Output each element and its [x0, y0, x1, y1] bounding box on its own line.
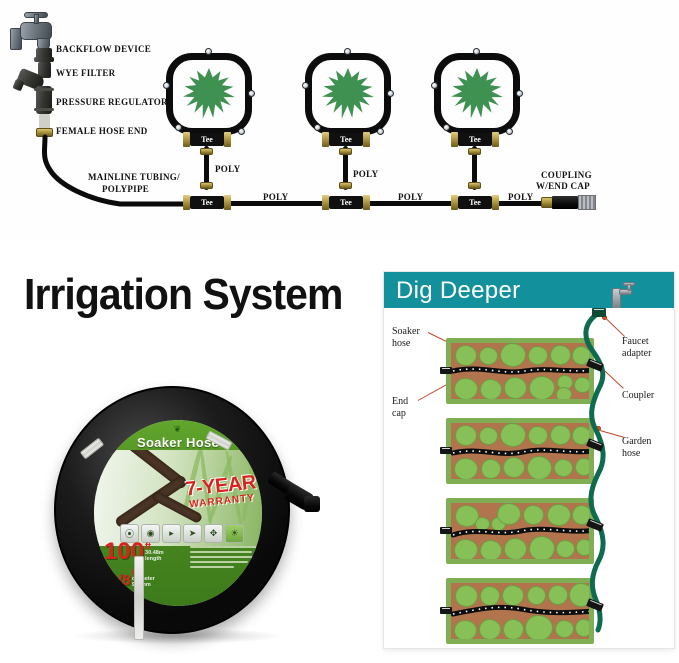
- screenshot-root: BACKFLOW DEVICE WYE FILTER PRESSURE REGU…: [0, 0, 679, 663]
- leader-line-garden-hose: [600, 430, 625, 438]
- leader-dot-garden-hose: [596, 426, 601, 431]
- label-poly-run-3: POLY: [508, 192, 533, 202]
- garden-bed: [446, 498, 594, 564]
- callout-line2: adapter: [622, 348, 651, 360]
- soaker-hose-path: [451, 503, 594, 564]
- callout-coupler: Coupler: [622, 390, 654, 402]
- garden-bed: [446, 578, 594, 644]
- riser-coupling-1: [200, 148, 213, 155]
- tee-fitting: Tee: [329, 196, 363, 209]
- soaker-hose-path: [451, 583, 594, 644]
- soaker-hose-path: [451, 343, 594, 404]
- spec-text-line: [190, 546, 258, 548]
- emitter-icon: [506, 128, 513, 135]
- emitter-icon: [443, 124, 450, 131]
- emitter-icon: [302, 82, 309, 89]
- tee-fitting: Tee: [329, 133, 363, 146]
- leader-line-faucet-adapter: [606, 318, 625, 337]
- tee-fitting: Tee: [458, 133, 492, 146]
- callout-line2: hose: [622, 448, 651, 460]
- label-backflow-device: BACKFLOW DEVICE: [56, 44, 151, 54]
- dig-deeper-diagram: Soaker hose End cap Faucet adapter Coupl…: [384, 308, 674, 648]
- spigot-handle-stem: [34, 14, 39, 24]
- soaker-hose-product-photo: ❦ Soaker Hose: [44, 382, 344, 654]
- label-wye-filter: WYE FILTER: [56, 68, 115, 78]
- drip-irrigation-schematic: BACKFLOW DEVICE WYE FILTER PRESSURE REGU…: [0, 0, 679, 240]
- nozzle-cap: [304, 496, 320, 512]
- hose-coil: ❦ Soaker Hose: [54, 386, 290, 634]
- wye-filter-tip: [12, 79, 24, 92]
- tee-label: Tee: [469, 136, 481, 144]
- dig-deeper-panel: Dig Deeper Soaker hose End cap: [384, 272, 674, 648]
- callout-garden-hose: Garden hose: [622, 436, 651, 459]
- callout-line1: Soaker: [392, 326, 420, 338]
- emitter-icon: [175, 124, 182, 131]
- tee-label: Tee: [201, 199, 213, 207]
- coil-strap: [134, 556, 144, 640]
- callout-line1: End: [392, 396, 408, 408]
- end-cap-ribbed: [578, 195, 596, 210]
- end-cap-body: [552, 196, 578, 209]
- label-coupling-line2: W/END CAP: [536, 181, 590, 191]
- label-poly-run-2: POLY: [398, 192, 423, 202]
- emitter-icon: [387, 90, 394, 97]
- pressure-regulator-rib-1: [34, 88, 54, 91]
- brand-line: ❦ Soaker Hose: [94, 424, 262, 450]
- label-coupling-line1: COUPLING: [541, 170, 592, 180]
- diameter-value: 3/8: [110, 575, 131, 588]
- label-pressure-regulator: PRESSURE REGULATOR: [56, 97, 168, 107]
- callout-end-cap: End cap: [392, 396, 408, 419]
- product-label-card: ❦ Soaker Hose: [94, 420, 262, 606]
- hose-end-fitting: [268, 474, 328, 514]
- faucet-handle-stem: [627, 284, 631, 291]
- tee-label: Tee: [340, 199, 352, 207]
- emitter-icon: [344, 48, 351, 55]
- label-female-hose-end: FEMALE HOSE END: [56, 126, 148, 136]
- emitter-icon: [238, 128, 245, 135]
- emitter-icon: [516, 90, 523, 97]
- leaf-logo-icon: ❦: [94, 424, 262, 435]
- callout-line1: Coupler: [622, 390, 654, 402]
- tee-label: Tee: [201, 136, 213, 144]
- callout-line1: Faucet: [622, 336, 651, 348]
- garden-bed: [446, 338, 594, 404]
- riser-coupling-2: [339, 148, 352, 155]
- length-metric-caption: length: [145, 557, 164, 563]
- tee-fitting: Tee: [458, 196, 492, 209]
- emitter-icon: [431, 82, 438, 89]
- end-cap-fitting: [440, 607, 452, 614]
- coil-center-opening: ❦ Soaker Hose: [94, 420, 262, 606]
- tee-fitting: Tee: [190, 196, 224, 209]
- page-title: Irrigation System: [24, 270, 342, 320]
- emitter-icon: [473, 48, 480, 55]
- emitter-icon: [163, 82, 170, 89]
- spec-text-line: [190, 551, 252, 553]
- diameter-spec: 3/8 in diameter 9.5 mm: [110, 568, 155, 588]
- spec-text-line: [190, 566, 234, 568]
- dig-deeper-title: Dig Deeper: [396, 277, 520, 305]
- callout-line2: hose: [392, 338, 420, 350]
- spec-fine-print: [190, 546, 258, 571]
- length-units: ft 30.48m length: [145, 542, 164, 562]
- tee-label: Tee: [469, 199, 481, 207]
- female-hose-end-nut: [36, 128, 53, 137]
- callout-line2: cap: [392, 408, 408, 420]
- emitter-icon: [377, 128, 384, 135]
- garden-bed: [446, 418, 594, 484]
- callout-faucet-adapter: Faucet adapter: [622, 336, 651, 359]
- emitter-icon: [314, 124, 321, 131]
- pressure-regulator-rib-2: [34, 108, 54, 111]
- label-poly-riser-1: POLY: [215, 164, 240, 174]
- emitter-icon: [248, 90, 255, 97]
- riser-coupling-2b: [339, 182, 352, 189]
- label-poly-run-1: POLY: [263, 192, 288, 202]
- dig-deeper-header: Dig Deeper: [384, 272, 674, 308]
- riser-coupling-3b: [468, 182, 481, 189]
- end-cap-fitting: [440, 367, 452, 374]
- emitter-icon: [205, 48, 212, 55]
- end-cap-fitting: [440, 447, 452, 454]
- tee-label: Tee: [340, 136, 352, 144]
- leader-line-coupler: [600, 366, 624, 389]
- spec-text-line: [190, 561, 248, 563]
- label-mainline-tubing-line2: POLYPIPE: [102, 184, 149, 194]
- callout-line1: Garden: [622, 436, 651, 448]
- riser-coupling-1b: [200, 182, 213, 189]
- riser-coupling-3: [468, 148, 481, 155]
- label-spec-area: 100 ft 30.48m length 3/8 in diamete: [94, 540, 262, 604]
- faucet-adapter-fitting: [592, 308, 606, 317]
- product-name: Soaker Hose: [94, 435, 262, 450]
- spec-text-line: [190, 556, 256, 558]
- tee-fitting: Tee: [190, 133, 224, 146]
- callout-soaker-hose: Soaker hose: [392, 326, 420, 349]
- soaker-hose-path: [451, 423, 594, 484]
- label-mainline-tubing-line1: MAINLINE TUBING/: [88, 172, 180, 182]
- label-poly-riser-2: POLY: [353, 169, 378, 179]
- end-cap-fitting: [440, 527, 452, 534]
